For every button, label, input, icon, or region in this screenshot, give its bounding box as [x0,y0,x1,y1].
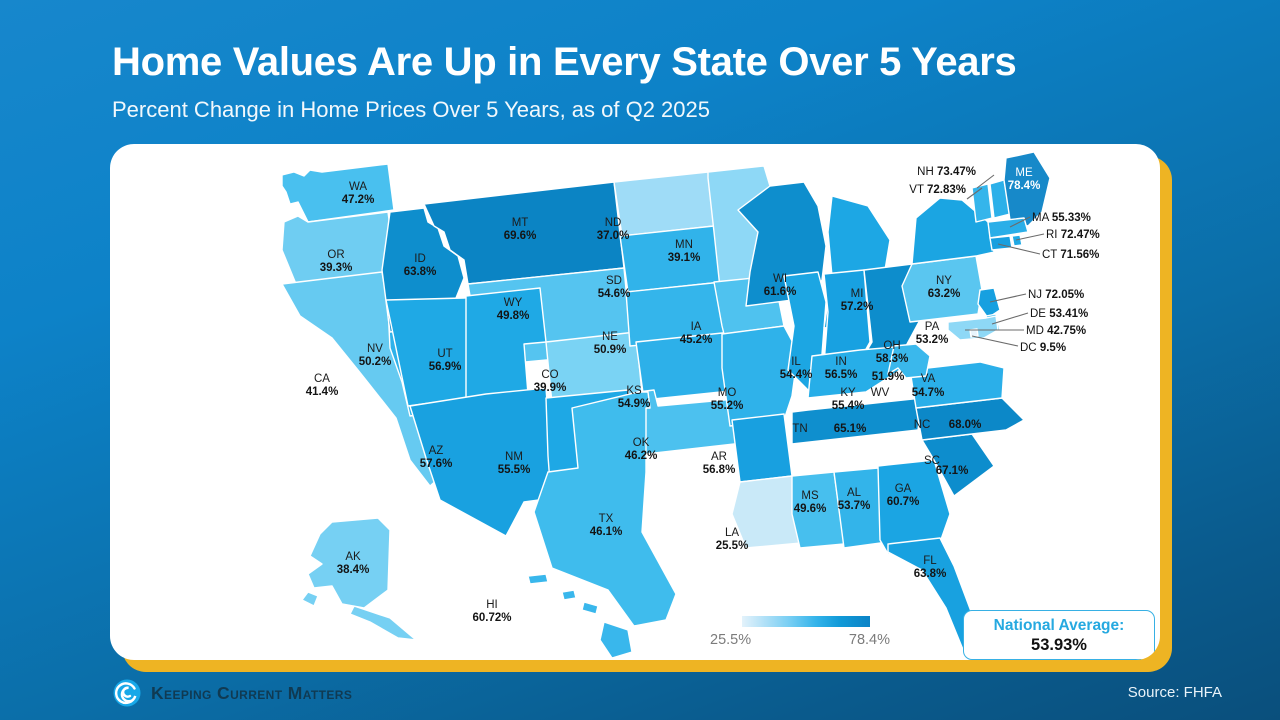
callout-DC: DC 9.5% [1020,342,1066,354]
svg-text:49.6%: 49.6% [794,503,827,515]
page-subtitle: Percent Change in Home Prices Over 5 Yea… [112,97,1172,123]
svg-text:IN: IN [835,356,847,368]
svg-text:AK: AK [345,551,361,563]
svg-text:MT: MT [512,217,529,229]
callout-DE: DE 53.41% [1030,308,1088,320]
svg-text:57.6%: 57.6% [420,458,453,470]
state-CT[interactable] [990,236,1012,250]
svg-text:NC: NC [914,419,931,431]
svg-text:25.5%: 25.5% [716,540,749,552]
svg-text:FL: FL [923,555,937,567]
svg-text:MN: MN [675,239,693,251]
svg-text:ID: ID [414,253,426,265]
svg-text:AZ: AZ [429,445,444,457]
page-title: Home Values Are Up in Every State Over 5… [112,40,1172,85]
svg-text:UT: UT [437,348,452,360]
svg-text:MI: MI [851,288,864,300]
svg-text:IL: IL [791,356,801,368]
svg-text:63.8%: 63.8% [404,266,437,278]
state-VT[interactable] [972,184,992,222]
legend-gradient-bar [742,616,870,627]
state-label-HI: HI 60.72% [472,599,511,624]
svg-text:54.9%: 54.9% [618,398,651,410]
national-average-value: 53.93% [964,635,1154,656]
callout-NH: NH 73.47% [917,166,976,178]
svg-text:55.5%: 55.5% [498,464,531,476]
national-average-label: National Average: [964,616,1154,635]
callout-MD: MD 42.75% [1026,325,1086,337]
svg-text:37.0%: 37.0% [597,230,630,242]
svg-text:HI: HI [486,599,498,611]
svg-text:GA: GA [895,483,912,495]
svg-text:39.9%: 39.9% [534,382,567,394]
svg-text:57.2%: 57.2% [841,301,874,313]
svg-text:PA: PA [925,321,940,333]
brand-logo: Keeping Current Matters [112,678,352,708]
source-attribution: Source: FHFA [1128,684,1222,701]
svg-text:68.0%: 68.0% [949,419,982,431]
brand-name: Keeping Current Matters [151,683,352,704]
header: Home Values Are Up in Every State Over 5… [112,40,1172,123]
svg-text:56.5%: 56.5% [825,369,858,381]
state-label-PA: PA 53.2% [916,321,949,346]
us-choropleth-map: WA 47.2% OR 39.3% CA 41.4% NV 50.2% ID 6… [110,144,1160,660]
svg-text:60.72%: 60.72% [472,612,511,624]
svg-text:47.2%: 47.2% [342,194,375,206]
callout-MA: MA 55.33% [1032,212,1091,224]
svg-text:50.9%: 50.9% [594,344,627,356]
svg-text:OK: OK [633,437,650,449]
svg-text:61.6%: 61.6% [764,286,797,298]
svg-text:58.3%: 58.3% [876,353,909,365]
svg-text:CO: CO [541,369,558,381]
legend-min-label: 25.5% [710,632,751,648]
svg-text:53.7%: 53.7% [838,500,871,512]
svg-text:55.2%: 55.2% [711,400,744,412]
svg-text:KY: KY [840,387,856,399]
svg-text:65.1%: 65.1% [834,423,867,435]
svg-text:NE: NE [602,331,618,343]
svg-text:69.6%: 69.6% [504,230,537,242]
svg-text:MO: MO [718,387,737,399]
state-RI[interactable] [1012,235,1022,246]
svg-text:TX: TX [599,513,614,525]
color-scale-legend: 25.5% 78.4% [710,616,950,648]
svg-text:54.4%: 54.4% [780,369,813,381]
state-label-CA: CA 41.4% [306,373,339,398]
svg-text:AL: AL [847,487,862,499]
svg-text:63.8%: 63.8% [914,568,947,580]
svg-text:IA: IA [691,321,702,333]
svg-text:67.1%: 67.1% [936,465,969,477]
svg-text:39.1%: 39.1% [668,252,701,264]
svg-text:WA: WA [349,181,367,193]
legend-max-label: 78.4% [849,632,890,648]
state-NJ[interactable] [978,288,1000,318]
svg-text:WV: WV [871,387,890,399]
svg-text:WI: WI [773,273,787,285]
state-label-AR: AR 56.8% [703,451,736,476]
callout-CT: CT 71.56% [1042,249,1099,261]
state-ND[interactable] [614,172,714,236]
legend-tick-labels: 25.5% 78.4% [710,632,890,648]
svg-text:38.4%: 38.4% [337,564,370,576]
svg-text:NM: NM [505,451,523,463]
svg-text:54.6%: 54.6% [598,288,631,300]
state-AR[interactable] [732,414,792,482]
callout-NJ: NJ 72.05% [1028,289,1084,301]
national-average-box: National Average: 53.93% [963,610,1155,660]
leader-line-dc [972,336,1018,346]
svg-text:NV: NV [367,343,383,355]
svg-text:51.9%: 51.9% [872,371,905,383]
state-AK[interactable] [302,518,416,640]
callout-RI: RI 72.47% [1046,229,1100,241]
svg-text:41.4%: 41.4% [306,386,339,398]
svg-text:55.4%: 55.4% [832,400,865,412]
svg-text:56.8%: 56.8% [703,464,736,476]
svg-text:63.2%: 63.2% [928,288,961,300]
svg-text:ME: ME [1015,167,1033,179]
svg-text:56.9%: 56.9% [429,361,462,373]
svg-text:LA: LA [725,527,739,539]
map-card: WA 47.2% OR 39.3% CA 41.4% NV 50.2% ID 6… [110,144,1160,660]
callout-VT: VT 72.83% [909,184,966,196]
svg-text:54.7%: 54.7% [912,387,945,399]
map-svg: WA 47.2% OR 39.3% CA 41.4% NV 50.2% ID 6… [110,144,1160,660]
svg-text:OR: OR [327,249,344,261]
spiral-logo-icon [112,678,142,708]
svg-text:ND: ND [605,217,622,229]
svg-text:SD: SD [606,275,622,287]
svg-text:WY: WY [504,297,523,309]
svg-text:KS: KS [626,385,642,397]
svg-text:50.2%: 50.2% [359,356,392,368]
svg-text:OH: OH [883,340,900,352]
svg-text:TN: TN [792,423,807,435]
svg-text:60.7%: 60.7% [887,496,920,508]
svg-text:46.1%: 46.1% [590,526,623,538]
svg-text:53.2%: 53.2% [916,334,949,346]
svg-text:NY: NY [936,275,952,287]
svg-text:45.2%: 45.2% [680,334,713,346]
svg-text:CA: CA [314,373,330,385]
svg-text:49.8%: 49.8% [497,310,530,322]
svg-text:46.2%: 46.2% [625,450,658,462]
svg-text:AR: AR [711,451,727,463]
svg-text:39.3%: 39.3% [320,262,353,274]
svg-text:VA: VA [921,373,936,385]
svg-text:78.4%: 78.4% [1008,180,1041,192]
svg-text:MS: MS [801,490,819,502]
